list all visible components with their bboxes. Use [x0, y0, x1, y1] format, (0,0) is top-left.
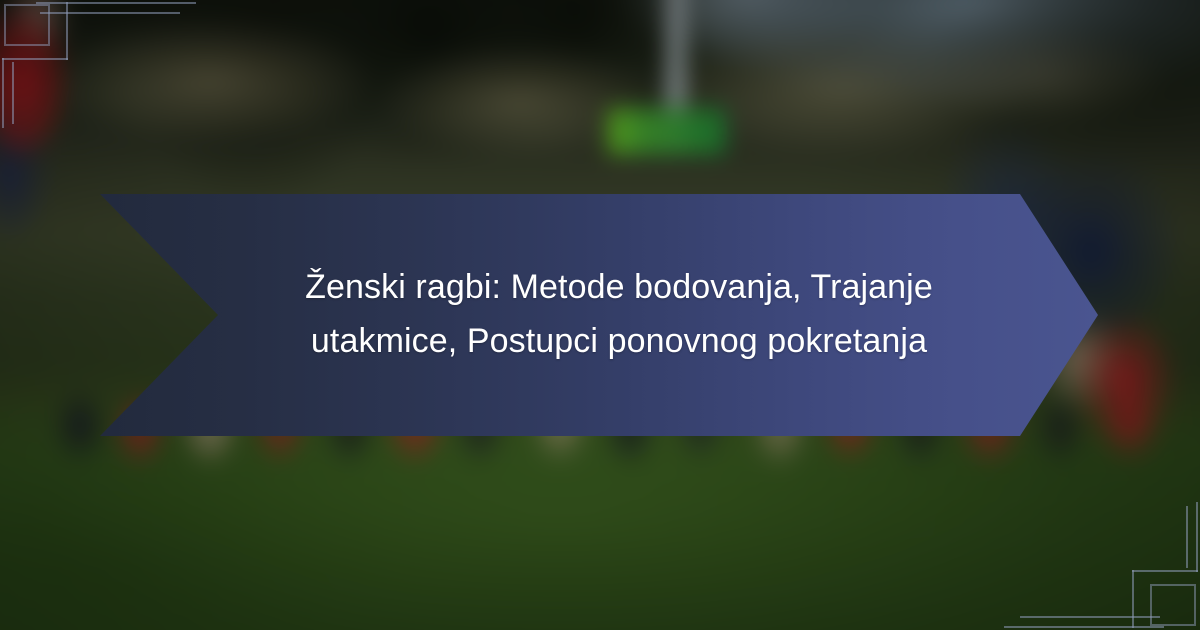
title-ribbon-inner: Ženski ragbi: Metode bodovanja, Trajanje… — [199, 261, 999, 368]
banner-card: Ženski ragbi: Metode bodovanja, Trajanje… — [0, 0, 1200, 630]
page-title-line-1: Ženski ragbi: Metode bodovanja, Trajanje — [305, 268, 933, 306]
page-title: Ženski ragbi: Metode bodovanja, Trajanje… — [239, 261, 999, 368]
page-title-line-2: utakmice, Postupci ponovnog pokretanja — [311, 322, 927, 360]
title-ribbon: Ženski ragbi: Metode bodovanja, Trajanje… — [100, 194, 1098, 436]
